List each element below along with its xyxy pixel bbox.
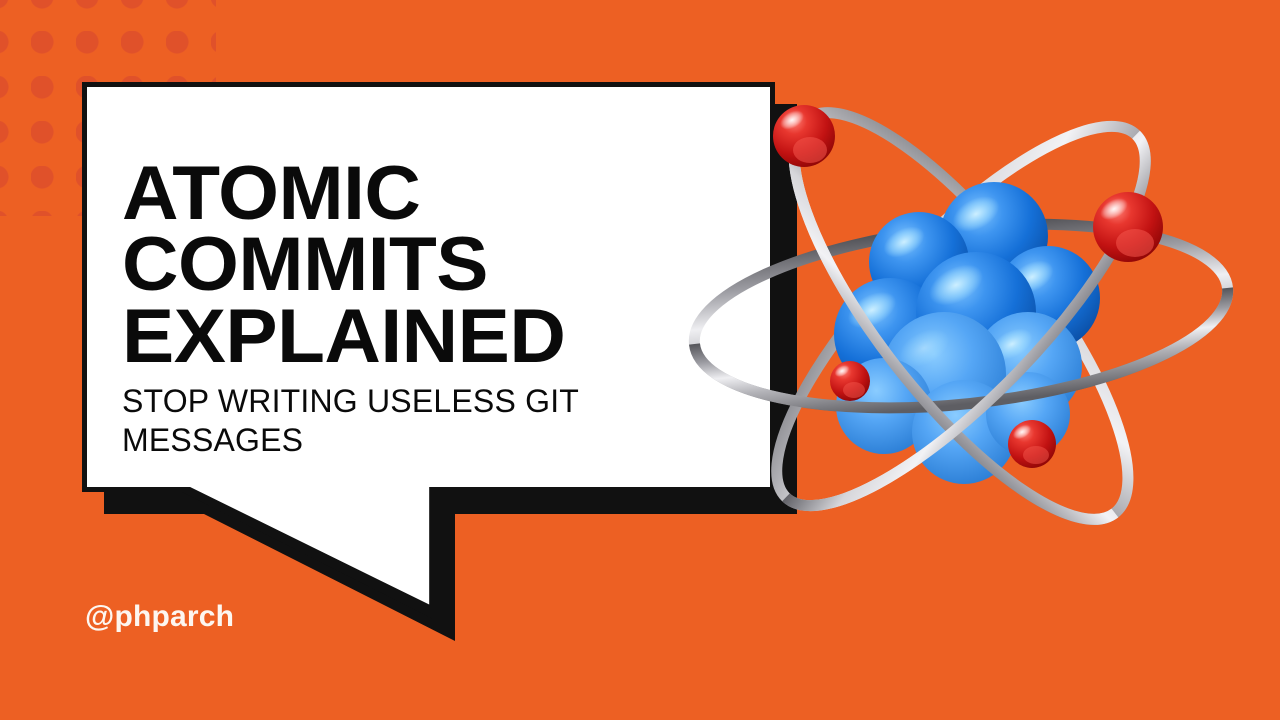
orbit-ring-diag-a-back xyxy=(742,84,1179,554)
nucleus-sphere xyxy=(974,312,1082,420)
nucleus-sphere xyxy=(869,212,969,312)
nucleus-sphere xyxy=(996,246,1100,350)
title-line-2: COMMITS xyxy=(122,229,740,300)
nucleus-sphere xyxy=(912,380,1016,484)
social-handle: @phparch xyxy=(85,600,234,634)
orbit-ring-diag-a-front xyxy=(742,119,1114,554)
orbit-ring-diag-b-back xyxy=(728,84,1193,553)
nucleus-sphere xyxy=(836,358,932,454)
title-line-3: EXPLAINED xyxy=(122,301,740,372)
orbit-ring-diag-b-front xyxy=(786,135,1194,553)
atom-nucleus xyxy=(834,182,1100,484)
title-line-1: ATOMIC xyxy=(122,158,740,229)
nucleus-sphere xyxy=(986,372,1070,456)
nucleus-sphere xyxy=(882,312,1006,436)
headline-block: ATOMIC COMMITS EXPLAINED STOP WRITING US… xyxy=(122,158,722,460)
nucleus-sphere xyxy=(916,252,1036,372)
electron-bottom xyxy=(1008,420,1056,468)
subtitle-text: STOP WRITING USELESS GIT MESSAGES xyxy=(122,382,592,460)
nucleus-sphere xyxy=(940,182,1048,290)
poster-canvas: ATOMIC COMMITS EXPLAINED STOP WRITING US… xyxy=(0,0,1280,720)
nucleus-sphere xyxy=(834,278,946,390)
electron-right xyxy=(1093,192,1163,262)
electron-lower-left xyxy=(830,361,870,401)
